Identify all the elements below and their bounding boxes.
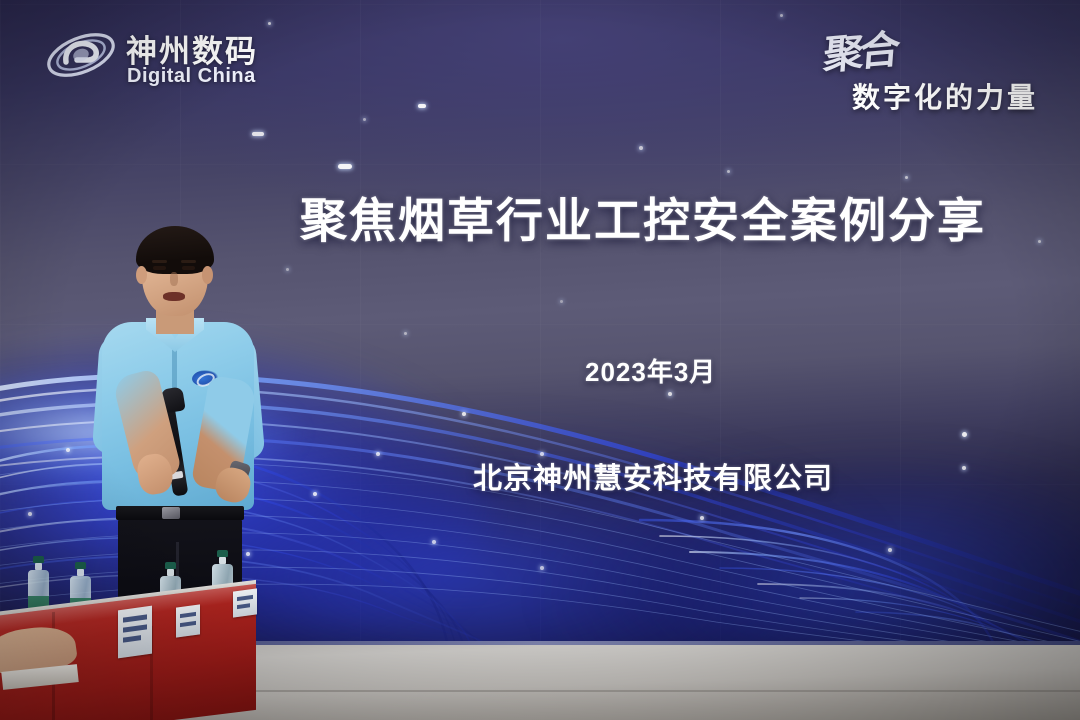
particle-dot <box>962 432 967 437</box>
particle-dot <box>28 512 32 516</box>
presenter-ear-left <box>136 266 147 284</box>
bottle-neck <box>77 569 84 576</box>
presenter-ear-right <box>202 266 213 284</box>
particle-dot <box>727 170 730 173</box>
particle-dot <box>668 392 672 396</box>
slide-company-name: 北京神州慧安科技有限公司 <box>473 455 833 497</box>
particle-dot <box>905 176 908 179</box>
name-card-text <box>237 603 250 609</box>
particle-dot <box>1038 240 1041 243</box>
presenter-eyebrow-right <box>181 260 196 263</box>
presenter-eye-right <box>182 266 195 270</box>
particle-dot <box>338 164 352 169</box>
belt-buckle <box>162 507 180 519</box>
presenter-mouth <box>163 292 185 301</box>
particle-dot <box>313 492 317 496</box>
particle-dot <box>252 132 264 136</box>
name-card-text <box>237 595 253 601</box>
bottle-cap <box>75 562 86 569</box>
name-card-text <box>123 614 147 622</box>
bottle-cap <box>33 556 44 563</box>
name-card <box>233 588 257 617</box>
presenter-nose <box>170 272 178 286</box>
spiral-galaxy-icon <box>44 26 118 84</box>
bottle-cap <box>217 550 228 557</box>
name-card <box>176 604 200 637</box>
name-card-text <box>180 612 196 618</box>
presenter-eye-left <box>153 266 166 270</box>
particle-dot <box>639 146 643 150</box>
event-theme-lockup: 聚合 数字化的力量 <box>818 20 1068 116</box>
name-card-text <box>180 621 196 627</box>
name-card <box>118 606 152 659</box>
particle-dot <box>700 516 704 520</box>
digital-china-logo: 神州数码 Digital China <box>44 22 284 94</box>
particle-dot <box>66 448 70 452</box>
particle-dot <box>404 332 407 335</box>
particle-dot <box>560 300 563 303</box>
particle-dot <box>780 14 783 17</box>
bottle-neck <box>219 557 226 564</box>
particle-dot <box>286 268 289 271</box>
name-card-text <box>123 635 141 643</box>
particle-dot <box>418 104 426 108</box>
presenter-hair <box>136 226 214 274</box>
brand-english-name: Digital China <box>127 65 256 88</box>
name-card-text <box>123 624 147 632</box>
particle-dot <box>962 466 966 470</box>
particle-dot <box>432 540 436 544</box>
event-theme-subtitle: 数字化的力量 <box>852 76 1038 116</box>
slide-date: 2023年3月 <box>585 352 716 389</box>
bottle-neck <box>35 563 42 570</box>
bottle-neck <box>167 569 174 576</box>
slide-title: 聚焦烟草行业工控安全案例分享 <box>300 182 1010 251</box>
presenter <box>88 222 278 642</box>
conference-photo: 聚焦烟草行业工控安全案例分享 2023年3月 北京神州慧安科技有限公司 神州数码… <box>0 0 1080 720</box>
presenter-eyebrow-left <box>152 260 167 263</box>
event-theme-calligraphy: 聚合 <box>822 17 899 81</box>
particle-dot <box>540 566 544 570</box>
particle-dot <box>888 548 892 552</box>
particle-dot <box>363 118 366 121</box>
presenter-belt <box>116 506 244 520</box>
particle-dot <box>462 412 466 416</box>
particle-dot <box>376 452 380 456</box>
bottle-cap <box>165 562 176 569</box>
